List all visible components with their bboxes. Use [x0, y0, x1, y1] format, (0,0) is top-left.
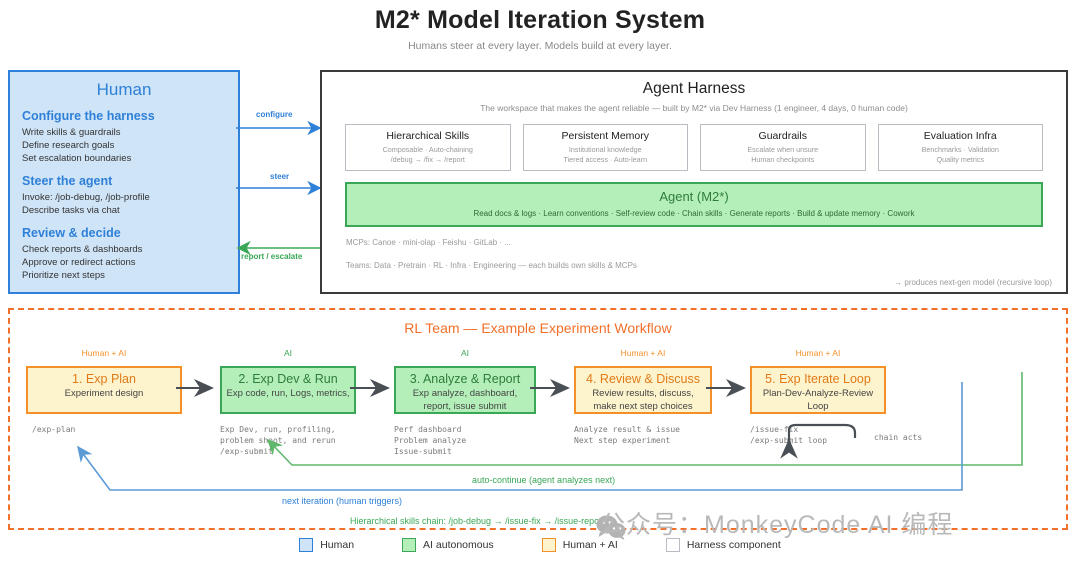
watermark-text: 公众号：MonkeyCode AI 编程 [600, 505, 953, 541]
legend-swatch-human-ai [542, 538, 556, 552]
component-desc: Escalate when unsure Human checkpoints [703, 145, 863, 164]
diagram-canvas: M2* Model Iteration System Humans steer … [0, 0, 1080, 568]
step-desc: Review results, discuss, make next step … [580, 388, 706, 413]
human-group-review: Review & decide Check reports & dashboar… [22, 226, 226, 282]
workflow-step-2: AI 2. Exp Dev & Run Exp code, run, Logs,… [220, 366, 356, 414]
step-note-2: Exp Dev, run, profiling, problem shoot, … [220, 424, 336, 457]
human-group-heading: Review & decide [22, 226, 226, 240]
legend-label: Human + AI [563, 539, 618, 551]
legend-label: Human [320, 539, 354, 551]
step-desc: Exp analyze, dashboard, report, issue su… [400, 388, 530, 413]
harness-title: Agent Harness [332, 80, 1056, 98]
legend-swatch-harness [666, 538, 680, 552]
human-group-item: Write skills & guardrails [22, 126, 226, 139]
agent-capabilities: Read docs & logs · Learn conventions · S… [351, 209, 1037, 218]
human-group-configure: Configure the harness Write skills & gua… [22, 109, 226, 165]
human-group-item: Set escalation boundaries [22, 152, 226, 165]
agent-title: Agent (M2*) [351, 189, 1037, 204]
step-title: 2. Exp Dev & Run [226, 372, 350, 386]
harness-mcps-line: MCPs: Canoe · mini-olap · Feishu · GitLa… [346, 236, 1056, 250]
component-desc: Benchmarks · Validation Quality metrics [881, 145, 1041, 164]
legend-label: Harness component [687, 539, 781, 551]
human-group-item: Invoke: /job-debug, /job-profile [22, 191, 226, 204]
step-desc: Experiment design [32, 388, 176, 401]
human-group-heading: Steer the agent [22, 174, 226, 188]
step-title: 1. Exp Plan [32, 372, 176, 386]
component-desc: Institutional knowledge Tiered access · … [526, 145, 686, 164]
harness-footer-note: → produces next-gen model (recursive loo… [894, 278, 1052, 287]
step-note-5: /issue-fix /exp-submit loop [750, 424, 827, 446]
workflow-step-box-review-discuss[interactable]: 4. Review & Discuss Review results, disc… [574, 366, 712, 414]
connector-label-steer: steer [270, 172, 289, 181]
human-group-item: Check reports & dashboards [22, 243, 226, 256]
legend-swatch-human [299, 538, 313, 552]
chain-acts-label: chain acts [874, 432, 922, 443]
step-title: 5. Exp Iterate Loop [756, 372, 880, 386]
workflow-step-box-exp-iterate-loop[interactable]: 5. Exp Iterate Loop Plan-Dev-Analyze-Rev… [750, 366, 886, 414]
page-title: M2* Model Iteration System [0, 6, 1080, 35]
workflow-step-4: Human + AI 4. Review & Discuss Review re… [574, 366, 712, 414]
page-subtitle: Humans steer at every layer. Models buil… [0, 40, 1080, 52]
workflow-step-3: AI 3. Analyze & Report Exp analyze, dash… [394, 366, 536, 414]
legend-label: AI autonomous [423, 539, 494, 551]
workflow-step-1: Human + AI 1. Exp Plan Experiment design [26, 366, 182, 414]
step-caption: AI [394, 348, 536, 358]
step-desc: Exp code, run, Logs, metrics, [226, 388, 350, 401]
agent-m2-box[interactable]: Agent (M2*) Read docs & logs · Learn con… [345, 182, 1043, 227]
step-caption: Human + AI [26, 348, 182, 358]
loop-label-auto-continue: auto-continue (agent analyzes next) [472, 475, 615, 485]
step-caption: AI [220, 348, 356, 358]
step-title: 3. Analyze & Report [400, 372, 530, 386]
human-panel: Human Configure the harness Write skills… [8, 70, 240, 294]
human-panel-title: Human [22, 80, 226, 100]
step-note-4: Analyze result & issue Next step experim… [574, 424, 680, 446]
agent-harness-panel: Agent Harness The workspace that makes t… [320, 70, 1068, 294]
harness-component-persistent-memory[interactable]: Persistent Memory Institutional knowledg… [523, 124, 689, 171]
step-caption: Human + AI [574, 348, 712, 358]
legend-item-human: Human [299, 538, 354, 552]
human-group-item: Approve or redirect actions [22, 256, 226, 269]
component-title: Guardrails [703, 130, 863, 142]
legend-item-harness-component: Harness component [666, 538, 781, 552]
workflow-step-5: Human + AI 5. Exp Iterate Loop Plan-Dev-… [750, 366, 886, 414]
component-title: Evaluation Infra [881, 130, 1041, 142]
connector-label-configure: configure [256, 110, 292, 119]
component-title: Hierarchical Skills [348, 130, 508, 142]
workflow-step-box-analyze-report[interactable]: 3. Analyze & Report Exp analyze, dashboa… [394, 366, 536, 414]
step-note-1: /exp-plan [32, 424, 75, 435]
harness-component-guardrails[interactable]: Guardrails Escalate when unsure Human ch… [700, 124, 866, 171]
human-group-item: Prioritize next steps [22, 269, 226, 282]
workflow-steps: Human + AI 1. Exp Plan Experiment design… [10, 344, 1066, 464]
legend-item-ai-autonomous: AI autonomous [402, 538, 494, 552]
legend-item-human-ai: Human + AI [542, 538, 618, 552]
step-note-3: Perf dashboard Problem analyze Issue-sub… [394, 424, 466, 457]
rl-workflow-title: RL Team — Example Experiment Workflow [10, 320, 1066, 336]
harness-component-hierarchical-skills[interactable]: Hierarchical Skills Composable · Auto-ch… [345, 124, 511, 171]
human-group-heading: Configure the harness [22, 109, 226, 123]
harness-component-evaluation-infra[interactable]: Evaluation Infra Benchmarks · Validation… [878, 124, 1044, 171]
human-group-item: Describe tasks via chat [22, 204, 226, 217]
harness-subtitle: The workspace that makes the agent relia… [332, 103, 1056, 113]
skills-chain-label: Hierarchical skills chain: /job-debug → … [350, 516, 605, 526]
step-title: 4. Review & Discuss [580, 372, 706, 386]
step-desc: Plan-Dev-Analyze-Review Loop [756, 388, 880, 413]
connector-label-report: report / escalate [241, 252, 302, 261]
human-group-steer: Steer the agent Invoke: /job-debug, /job… [22, 174, 226, 217]
workflow-step-box-exp-plan[interactable]: 1. Exp Plan Experiment design [26, 366, 182, 414]
human-group-item: Define research goals [22, 139, 226, 152]
workflow-step-box-exp-dev-run[interactable]: 2. Exp Dev & Run Exp code, run, Logs, me… [220, 366, 356, 414]
component-title: Persistent Memory [526, 130, 686, 142]
loop-label-next-iteration: next iteration (human triggers) [282, 496, 402, 506]
step-caption: Human + AI [750, 348, 886, 358]
legend-swatch-ai [402, 538, 416, 552]
harness-teams-line: Teams: Data · Pretrain · RL · Infra · En… [346, 259, 1056, 273]
harness-components-row: Hierarchical Skills Composable · Auto-ch… [332, 124, 1056, 171]
legend: Human AI autonomous Human + AI Harness c… [0, 538, 1080, 552]
rl-workflow-panel: RL Team — Example Experiment Workflow Hu… [8, 308, 1068, 530]
component-desc: Composable · Auto-chaining /debug → /fix… [348, 145, 508, 164]
